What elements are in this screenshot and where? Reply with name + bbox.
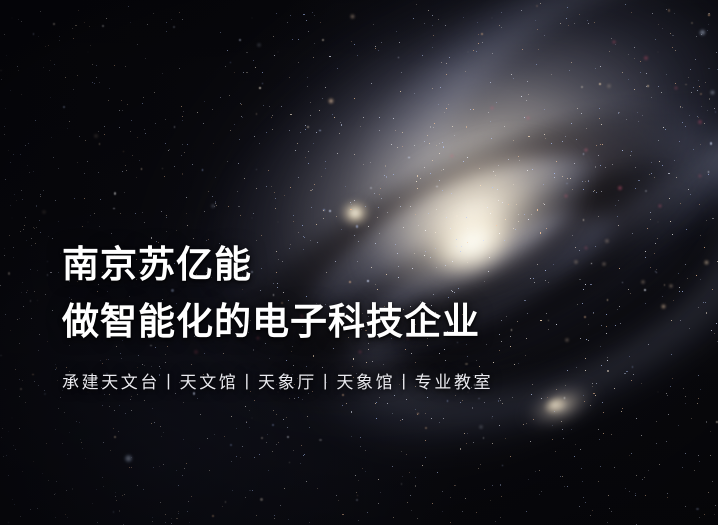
star [256, 515, 257, 516]
star [125, 165, 126, 166]
star [565, 136, 566, 137]
star [341, 229, 342, 230]
star [642, 479, 643, 480]
star [683, 388, 684, 389]
star [462, 400, 463, 401]
star [153, 13, 154, 14]
star [10, 205, 11, 206]
star [679, 287, 680, 288]
star [357, 495, 359, 497]
star [712, 289, 713, 290]
star [319, 130, 321, 132]
star [212, 515, 214, 517]
star [104, 134, 105, 135]
star [480, 464, 481, 465]
star [432, 88, 433, 89]
star [13, 445, 14, 446]
star [402, 146, 403, 147]
star [254, 400, 255, 401]
bright-star [669, 284, 673, 288]
star [556, 161, 557, 162]
star [599, 108, 600, 109]
star [289, 77, 290, 78]
star [56, 481, 57, 482]
star [536, 5, 538, 7]
star [399, 42, 400, 43]
star [685, 453, 686, 454]
star [325, 161, 326, 162]
star [22, 199, 23, 200]
star [137, 137, 138, 138]
star [595, 68, 596, 69]
star [40, 232, 41, 233]
star [312, 189, 313, 190]
bright-star [607, 84, 611, 88]
star [176, 470, 177, 471]
star [178, 485, 179, 486]
star [513, 78, 514, 79]
star [23, 229, 24, 230]
star [432, 25, 433, 26]
star [466, 443, 467, 444]
star [234, 72, 235, 73]
star [295, 150, 296, 151]
star [580, 449, 581, 450]
star [443, 418, 444, 419]
star [5, 179, 6, 180]
star [502, 465, 504, 467]
star [656, 421, 657, 422]
star [378, 50, 379, 51]
star [106, 18, 107, 19]
bright-star [211, 204, 215, 208]
star [526, 100, 527, 101]
star [254, 136, 255, 137]
star [656, 443, 657, 444]
star [528, 479, 529, 480]
star [360, 126, 361, 127]
star [40, 11, 41, 12]
star [680, 203, 681, 204]
star [596, 145, 597, 146]
star [502, 202, 503, 203]
star [625, 488, 626, 489]
star [490, 121, 491, 122]
star [621, 411, 622, 412]
star [497, 189, 498, 190]
star [658, 140, 659, 141]
star [164, 176, 165, 177]
star [20, 516, 21, 517]
star [307, 86, 308, 87]
star [512, 397, 513, 398]
star [630, 155, 631, 156]
star [37, 270, 38, 271]
star [705, 82, 706, 83]
star [670, 386, 671, 387]
star [204, 101, 205, 102]
star [10, 330, 11, 331]
star [10, 162, 11, 163]
star [252, 490, 253, 491]
star [518, 156, 519, 157]
star [658, 86, 659, 87]
star [685, 506, 686, 507]
star [27, 290, 28, 291]
star [40, 194, 41, 195]
star [303, 455, 304, 456]
star [452, 126, 453, 127]
star [246, 52, 247, 53]
star [387, 403, 388, 404]
star [145, 58, 146, 59]
star [310, 240, 311, 241]
star [142, 103, 143, 104]
star [21, 21, 22, 22]
star [539, 494, 540, 495]
star [236, 456, 237, 457]
star [283, 419, 284, 420]
star [490, 82, 491, 83]
star [319, 110, 320, 111]
star [94, 213, 95, 214]
star [274, 518, 275, 519]
star [334, 117, 335, 118]
star [96, 65, 97, 66]
star [31, 238, 32, 239]
star [676, 177, 677, 178]
star [274, 192, 275, 193]
star [636, 475, 637, 476]
star [594, 22, 595, 23]
star [381, 42, 382, 43]
star [329, 210, 331, 212]
star [126, 170, 127, 171]
star [401, 483, 403, 485]
star [609, 51, 610, 52]
star [321, 176, 322, 177]
star [306, 481, 307, 482]
star [162, 73, 163, 74]
star [467, 157, 468, 158]
star [454, 135, 455, 136]
star [634, 89, 635, 90]
star [700, 279, 701, 280]
star [647, 228, 648, 229]
star [521, 10, 522, 11]
star [515, 229, 516, 230]
star [275, 198, 276, 199]
star [110, 450, 111, 451]
star [456, 239, 457, 240]
star [90, 215, 91, 216]
star [450, 497, 451, 498]
star [144, 222, 145, 223]
star [360, 446, 361, 447]
star [708, 174, 709, 175]
star [709, 13, 710, 14]
star [438, 104, 439, 105]
star [611, 511, 612, 512]
star [402, 132, 403, 133]
star [691, 92, 692, 93]
star [100, 199, 101, 200]
star [34, 381, 35, 382]
star [661, 92, 662, 93]
star [317, 488, 318, 489]
star [448, 104, 449, 105]
star [60, 397, 61, 398]
star [358, 241, 359, 242]
star [55, 429, 56, 430]
star [155, 123, 156, 124]
star [685, 126, 686, 127]
star [622, 150, 623, 151]
star [13, 257, 14, 258]
star [115, 496, 116, 497]
star [611, 38, 612, 39]
star [13, 154, 14, 155]
star [215, 203, 216, 204]
star [312, 12, 313, 13]
star [115, 492, 116, 493]
star [492, 443, 493, 444]
star [290, 244, 291, 245]
star [574, 23, 575, 24]
star [65, 514, 66, 515]
star [432, 160, 433, 161]
star [4, 248, 5, 249]
star [698, 375, 699, 376]
star [52, 310, 53, 311]
star [476, 512, 477, 513]
star [403, 227, 404, 228]
star [354, 154, 355, 155]
star [367, 512, 368, 513]
star [664, 284, 666, 286]
star [113, 511, 115, 513]
star [414, 145, 415, 146]
star [179, 68, 180, 69]
star [429, 143, 430, 144]
star [8, 272, 10, 274]
star [655, 243, 656, 244]
star [274, 515, 275, 516]
star [410, 495, 411, 496]
star [611, 434, 612, 435]
star [303, 236, 304, 237]
star [173, 26, 175, 28]
star [436, 145, 437, 146]
star [585, 181, 586, 182]
star [14, 194, 15, 195]
star [598, 216, 599, 217]
star [711, 330, 712, 331]
star [443, 169, 444, 170]
star [552, 425, 553, 426]
star [567, 486, 568, 487]
star [699, 517, 700, 518]
star [43, 67, 44, 68]
star [566, 183, 568, 185]
star [197, 112, 198, 113]
star [208, 191, 209, 192]
star [714, 333, 715, 334]
star [182, 173, 183, 174]
star [166, 215, 167, 216]
star [524, 214, 525, 215]
star [48, 480, 49, 481]
star [696, 36, 697, 37]
star [682, 467, 683, 468]
star [363, 164, 364, 165]
star [165, 143, 166, 144]
star [289, 462, 291, 464]
star [79, 422, 80, 423]
star [304, 454, 305, 455]
star [273, 36, 274, 37]
hero-copy-block: 南京苏亿能 做智能化的电子科技企业 承建天文台丨天文馆丨天象厅丨天象馆丨专业教室 [62, 246, 662, 393]
star [45, 294, 46, 295]
star [307, 126, 309, 128]
star [178, 511, 179, 512]
star [284, 195, 285, 196]
star [84, 173, 85, 174]
star [381, 198, 382, 199]
star [228, 206, 229, 207]
star [102, 25, 104, 27]
star [81, 442, 82, 443]
star [376, 418, 377, 419]
star [484, 402, 485, 403]
star [302, 399, 303, 400]
star [305, 125, 306, 126]
star [182, 116, 183, 117]
star [526, 511, 527, 512]
star [298, 62, 299, 63]
star [392, 413, 393, 414]
star [92, 503, 93, 504]
star [375, 403, 376, 404]
star [638, 121, 639, 122]
star [668, 9, 670, 11]
star [72, 28, 73, 29]
star [695, 59, 696, 60]
star [130, 131, 131, 132]
star [500, 400, 501, 401]
star [649, 174, 650, 175]
star [82, 448, 83, 449]
star [493, 171, 494, 172]
star [707, 30, 708, 31]
star [394, 395, 395, 396]
hero-banner: 南京苏亿能 做智能化的电子科技企业 承建天文台丨天文馆丨天象厅丨天象馆丨专业教室 [0, 0, 718, 525]
star [365, 471, 366, 472]
star [689, 328, 690, 329]
star [34, 228, 35, 229]
star [571, 123, 572, 124]
star [231, 461, 232, 462]
star [55, 364, 56, 365]
star [69, 432, 70, 433]
star [375, 48, 376, 49]
star [358, 520, 359, 521]
star [67, 517, 68, 518]
star [36, 205, 37, 206]
star [417, 413, 419, 415]
star [19, 379, 20, 380]
star [427, 135, 428, 136]
star [562, 476, 563, 477]
star [496, 102, 497, 103]
star [231, 416, 232, 417]
star [35, 120, 36, 121]
star [446, 74, 447, 75]
star [85, 458, 86, 459]
star [225, 66, 226, 67]
star [600, 466, 601, 467]
star [716, 323, 717, 324]
star [12, 499, 13, 500]
star [575, 444, 576, 445]
star [368, 226, 369, 227]
star [666, 74, 667, 75]
star [206, 240, 207, 241]
star [393, 517, 394, 518]
star [158, 242, 159, 243]
star [21, 292, 22, 293]
star [593, 191, 594, 192]
star [631, 151, 632, 152]
star [411, 510, 412, 511]
star [48, 236, 49, 237]
star [715, 505, 716, 506]
star [23, 306, 24, 307]
star [420, 178, 421, 179]
star [119, 127, 120, 128]
star [541, 491, 542, 492]
star [698, 80, 699, 81]
star [392, 466, 393, 467]
star [700, 389, 701, 390]
star [709, 98, 710, 99]
star [484, 489, 485, 490]
star [422, 465, 423, 466]
star [642, 115, 643, 116]
star [545, 138, 546, 139]
star [171, 19, 172, 20]
star [670, 33, 671, 34]
star [58, 272, 59, 273]
star [289, 130, 290, 131]
star [608, 495, 609, 496]
bright-star [699, 29, 706, 36]
star [441, 170, 442, 171]
star [706, 312, 707, 313]
star [152, 517, 153, 518]
star [685, 396, 686, 397]
star [22, 282, 23, 283]
star [415, 214, 416, 215]
star [214, 434, 215, 435]
star [510, 456, 511, 457]
star [466, 217, 467, 218]
star [256, 188, 257, 189]
star [685, 264, 686, 265]
star [562, 429, 563, 430]
star [615, 205, 616, 206]
star [588, 181, 589, 182]
